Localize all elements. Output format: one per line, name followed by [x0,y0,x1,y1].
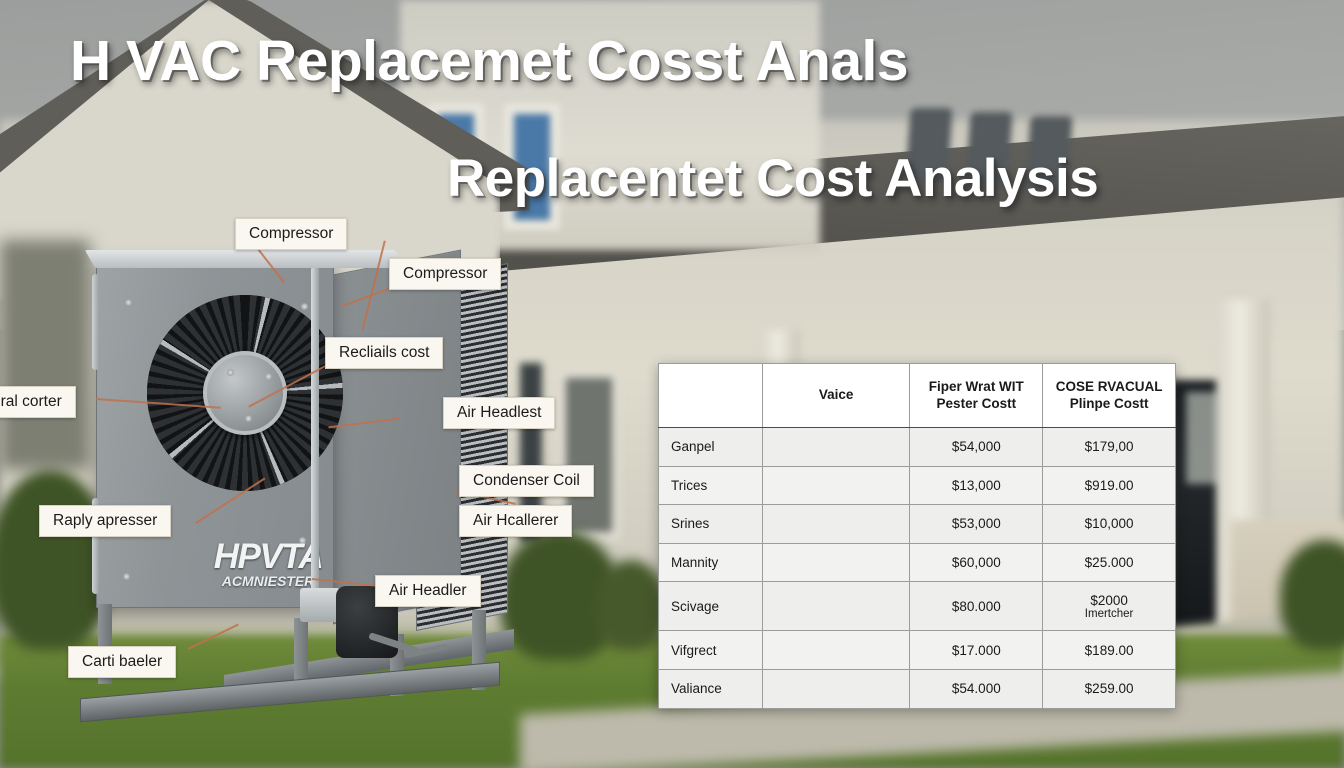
screw-icon [123,573,130,580]
cell-row-name: Trices [659,466,763,505]
cell-row-cost1: $60,000 [910,543,1043,582]
cell-row-name: Srines [659,505,763,544]
screw-icon [227,369,234,376]
cell-row-value [762,582,910,631]
cell-row-value [762,466,910,505]
screw-icon [301,303,308,310]
page-title-sub: Replacentet Cost Analysis [447,148,1098,209]
cell-row-cost1: $80.000 [910,582,1043,631]
callout-air-hcallerer[interactable]: Air Hcallerer [459,505,572,537]
cell-cost2-note: Imertcher [1055,608,1163,620]
table-row: Scivage $80.000 $2000 Imertcher [659,582,1176,631]
callout-label: ural corter [0,393,62,410]
column-header-line1: COSE RVACUAL [1056,379,1163,394]
unit-brand-line1: HPVTA [193,539,343,574]
column-header-line2: Plinpe Costt [1070,396,1149,411]
column-header-plinpe-cost: COSE RVACUAL Plinpe Costt [1043,364,1176,428]
table-row: Srines $53,000 $10,000 [659,505,1176,544]
callout-label: Compressor [403,265,487,282]
cell-row-name: Mannity [659,543,763,582]
page-title-main: H VAC Replacemet Cosst Anals [70,28,908,94]
callout-raply-apresser[interactable]: Raply apresser [39,505,171,537]
cell-row-cost2: $10,000 [1043,505,1176,544]
cell-cost2-amount: $2000 [1090,593,1128,608]
cell-row-cost1: $13,000 [910,466,1043,505]
cell-row-cost1: $54.000 [910,669,1043,708]
column-header-value: Vaice [762,364,910,428]
cell-row-cost2: $189.00 [1043,631,1176,670]
unit-brand-badge: HPVTA ACMNIESTER [193,539,343,588]
table-row: Mannity $60,000 $25.000 [659,543,1176,582]
callout-recliails-cost[interactable]: Recliails cost [325,337,443,369]
callout-compressor-right[interactable]: Compressor [389,258,501,290]
shrub [596,560,666,650]
callout-carti-baeler[interactable]: Carti baeler [68,646,176,678]
callout-label: Carti baeler [82,653,162,670]
unit-top-cap [85,250,405,268]
table-row: Valiance $54.000 $259.00 [659,669,1176,708]
unit-front-cabinet: HPVTA ACMNIESTER [96,258,334,608]
callout-label: Recliails cost [339,344,429,361]
cell-row-cost2: $2000 Imertcher [1043,582,1176,631]
callout-label: Air Headler [389,582,467,599]
unit-panel-seam-right [311,266,319,604]
unit-side-panel [333,250,461,625]
cell-row-cost2: $179,00 [1043,428,1176,467]
screenshot-canvas: HPVTA ACMNIESTER Compressor C [0,0,1344,768]
cell-row-value [762,505,910,544]
callout-label: Condenser Coil [473,472,580,489]
unit-brand-line2: ACMNIESTER [193,574,343,588]
table-row: Vifgrect $17.000 $189.00 [659,631,1176,670]
cell-row-name: Scivage [659,582,763,631]
screw-icon [125,299,132,306]
column-header-line2: Pester Costt [937,396,1017,411]
cell-row-value [762,669,910,708]
cell-row-cost1: $54,000 [910,428,1043,467]
cell-row-cost2: $259.00 [1043,669,1176,708]
screw-icon [265,373,272,380]
table-row: Trices $13,000 $919.00 [659,466,1176,505]
cell-row-value [762,631,910,670]
callout-condenser-coil[interactable]: Condenser Coil [459,465,594,497]
cell-row-value [762,428,910,467]
electrical-box [300,588,340,622]
cell-row-name: Valiance [659,669,763,708]
cell-row-cost1: $17.000 [910,631,1043,670]
callout-label: Air Headlest [457,404,541,421]
callout-ural-corter[interactable]: ural corter [0,386,76,418]
callout-compressor-top-left[interactable]: Compressor [235,218,347,250]
cell-row-cost2: $919.00 [1043,466,1176,505]
unit-panel-seam-upper-left [92,274,99,370]
callout-label: Air Hcallerer [473,512,558,529]
cell-row-name: Vifgrect [659,631,763,670]
cell-row-cost2: $25.000 [1043,543,1176,582]
table-body: Ganpel $54,000 $179,00 Trices $13,000 $9… [659,428,1176,709]
column-header-line1: Fiper Wrat WIT [929,379,1024,394]
screw-icon [245,415,252,422]
table-header: Vaice Fiper Wrat WIT Pester Costt COSE R… [659,364,1176,428]
cell-row-value [762,543,910,582]
cell-row-cost1: $53,000 [910,505,1043,544]
cost-analysis-table: Vaice Fiper Wrat WIT Pester Costt COSE R… [658,363,1176,709]
cell-row-name: Ganpel [659,428,763,467]
table-header-row: Vaice Fiper Wrat WIT Pester Costt COSE R… [659,364,1176,428]
callout-air-headler[interactable]: Air Headler [375,575,481,607]
callout-air-headlest[interactable]: Air Headlest [443,397,555,429]
table-row: Ganpel $54,000 $179,00 [659,428,1176,467]
column-header-pester-cost: Fiper Wrat WIT Pester Costt [910,364,1043,428]
column-header-blank [659,364,763,428]
callout-label: Compressor [249,225,333,242]
callout-label: Raply apresser [53,512,157,529]
